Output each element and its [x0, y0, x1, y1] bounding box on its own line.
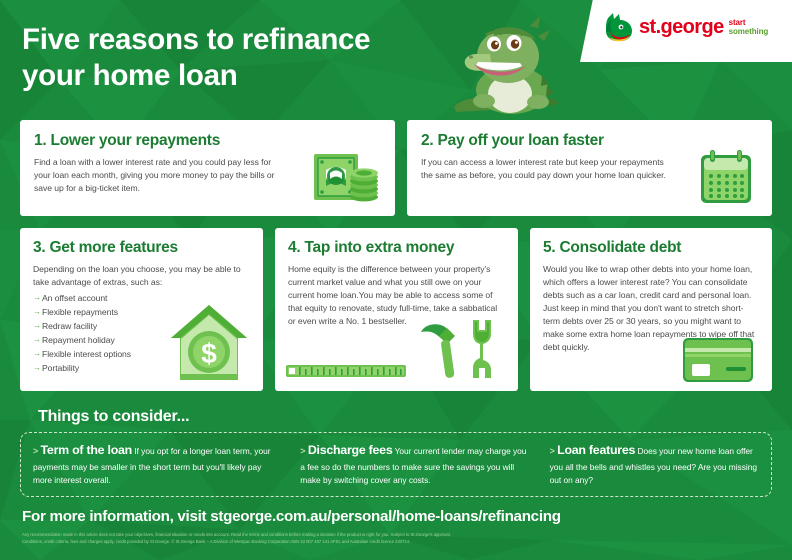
more-information-link[interactable]: For more information, visit stgeorge.com…: [22, 508, 561, 525]
consider-lead-3: Loan features: [557, 443, 635, 457]
dragon-icon: [604, 12, 634, 44]
hammer-wrench-icon: [417, 318, 493, 380]
logo-brand-text: st.george: [639, 17, 724, 37]
list-item: Portability: [33, 362, 183, 376]
list-item: An offset account: [33, 292, 183, 306]
dragon-mascot-illustration: [446, 2, 578, 114]
ruler-icon: [286, 363, 406, 379]
card-5-heading: 5. Consolidate debt: [543, 239, 681, 257]
disclaimer-fine-print: Any recommendation made in this article …: [22, 532, 780, 546]
consider-item-2: > Discharge fees Your current lender may…: [288, 433, 537, 496]
consider-marker-2: >: [300, 446, 305, 456]
consider-lead-1: Term of the loan: [41, 443, 132, 457]
card-1-body: Find a loan with a lower interest rate a…: [34, 156, 284, 195]
logo-tagline: start something: [729, 19, 769, 36]
house-dollar-icon: $: [168, 302, 250, 384]
header: Five reasons to refinance your home loan: [0, 0, 792, 112]
svg-text:$: $: [201, 338, 217, 369]
consider-section-title: Things to consider...: [38, 408, 189, 426]
reason-card-3: 3. Get more features Depending on the lo…: [20, 228, 263, 391]
reason-card-4: 4. Tap into extra money Home equity is t…: [275, 228, 518, 391]
list-item: Redraw facility: [33, 320, 183, 334]
card-3-heading: 3. Get more features: [33, 239, 178, 257]
reason-card-5: 5. Consolidate debt Would you like to wr…: [530, 228, 772, 391]
money-banknote-coins-icon: [312, 150, 380, 208]
page-title-line-2: your home loan: [22, 58, 452, 94]
card-1-heading: 1. Lower your repayments: [34, 132, 220, 150]
card-4-heading: 4. Tap into extra money: [288, 239, 454, 257]
consider-item-3: > Loan features Does your new home loan …: [538, 433, 771, 496]
logo-tagline-line-2: something: [729, 28, 769, 37]
page-title: Five reasons to refinance your home loan: [22, 22, 452, 94]
reason-card-1: 1. Lower your repayments Find a loan wit…: [20, 120, 395, 216]
disclaimer-line-2: Conditions, credit criteria, fees and ch…: [22, 539, 780, 546]
list-item: Flexible repayments: [33, 306, 183, 320]
brand-logo: st.george start something: [580, 0, 792, 62]
card-2-body: If you can access a lower interest rate …: [421, 156, 676, 182]
card-3-body: Depending on the loan you choose, you ma…: [33, 263, 251, 289]
list-item: Repayment holiday: [33, 334, 183, 348]
consider-section-box: > Term of the loan If you opt for a long…: [20, 432, 772, 497]
credit-card-icon: [682, 336, 754, 384]
consider-item-1: > Term of the loan If you opt for a long…: [21, 433, 288, 496]
disclaimer-line-1: Any recommendation made in this article …: [22, 532, 780, 539]
card-3-feature-list: An offset account Flexible repayments Re…: [33, 292, 183, 376]
consider-lead-2: Discharge fees: [308, 443, 393, 457]
consider-marker-1: >: [33, 446, 38, 456]
reason-card-2: 2. Pay off your loan faster If you can a…: [407, 120, 772, 216]
calendar-icon: [695, 148, 757, 208]
list-item: Flexible interest options: [33, 348, 183, 362]
card-2-heading: 2. Pay off your loan faster: [421, 132, 604, 150]
consider-marker-3: >: [550, 446, 555, 456]
page-title-line-1: Five reasons to refinance: [22, 22, 452, 58]
